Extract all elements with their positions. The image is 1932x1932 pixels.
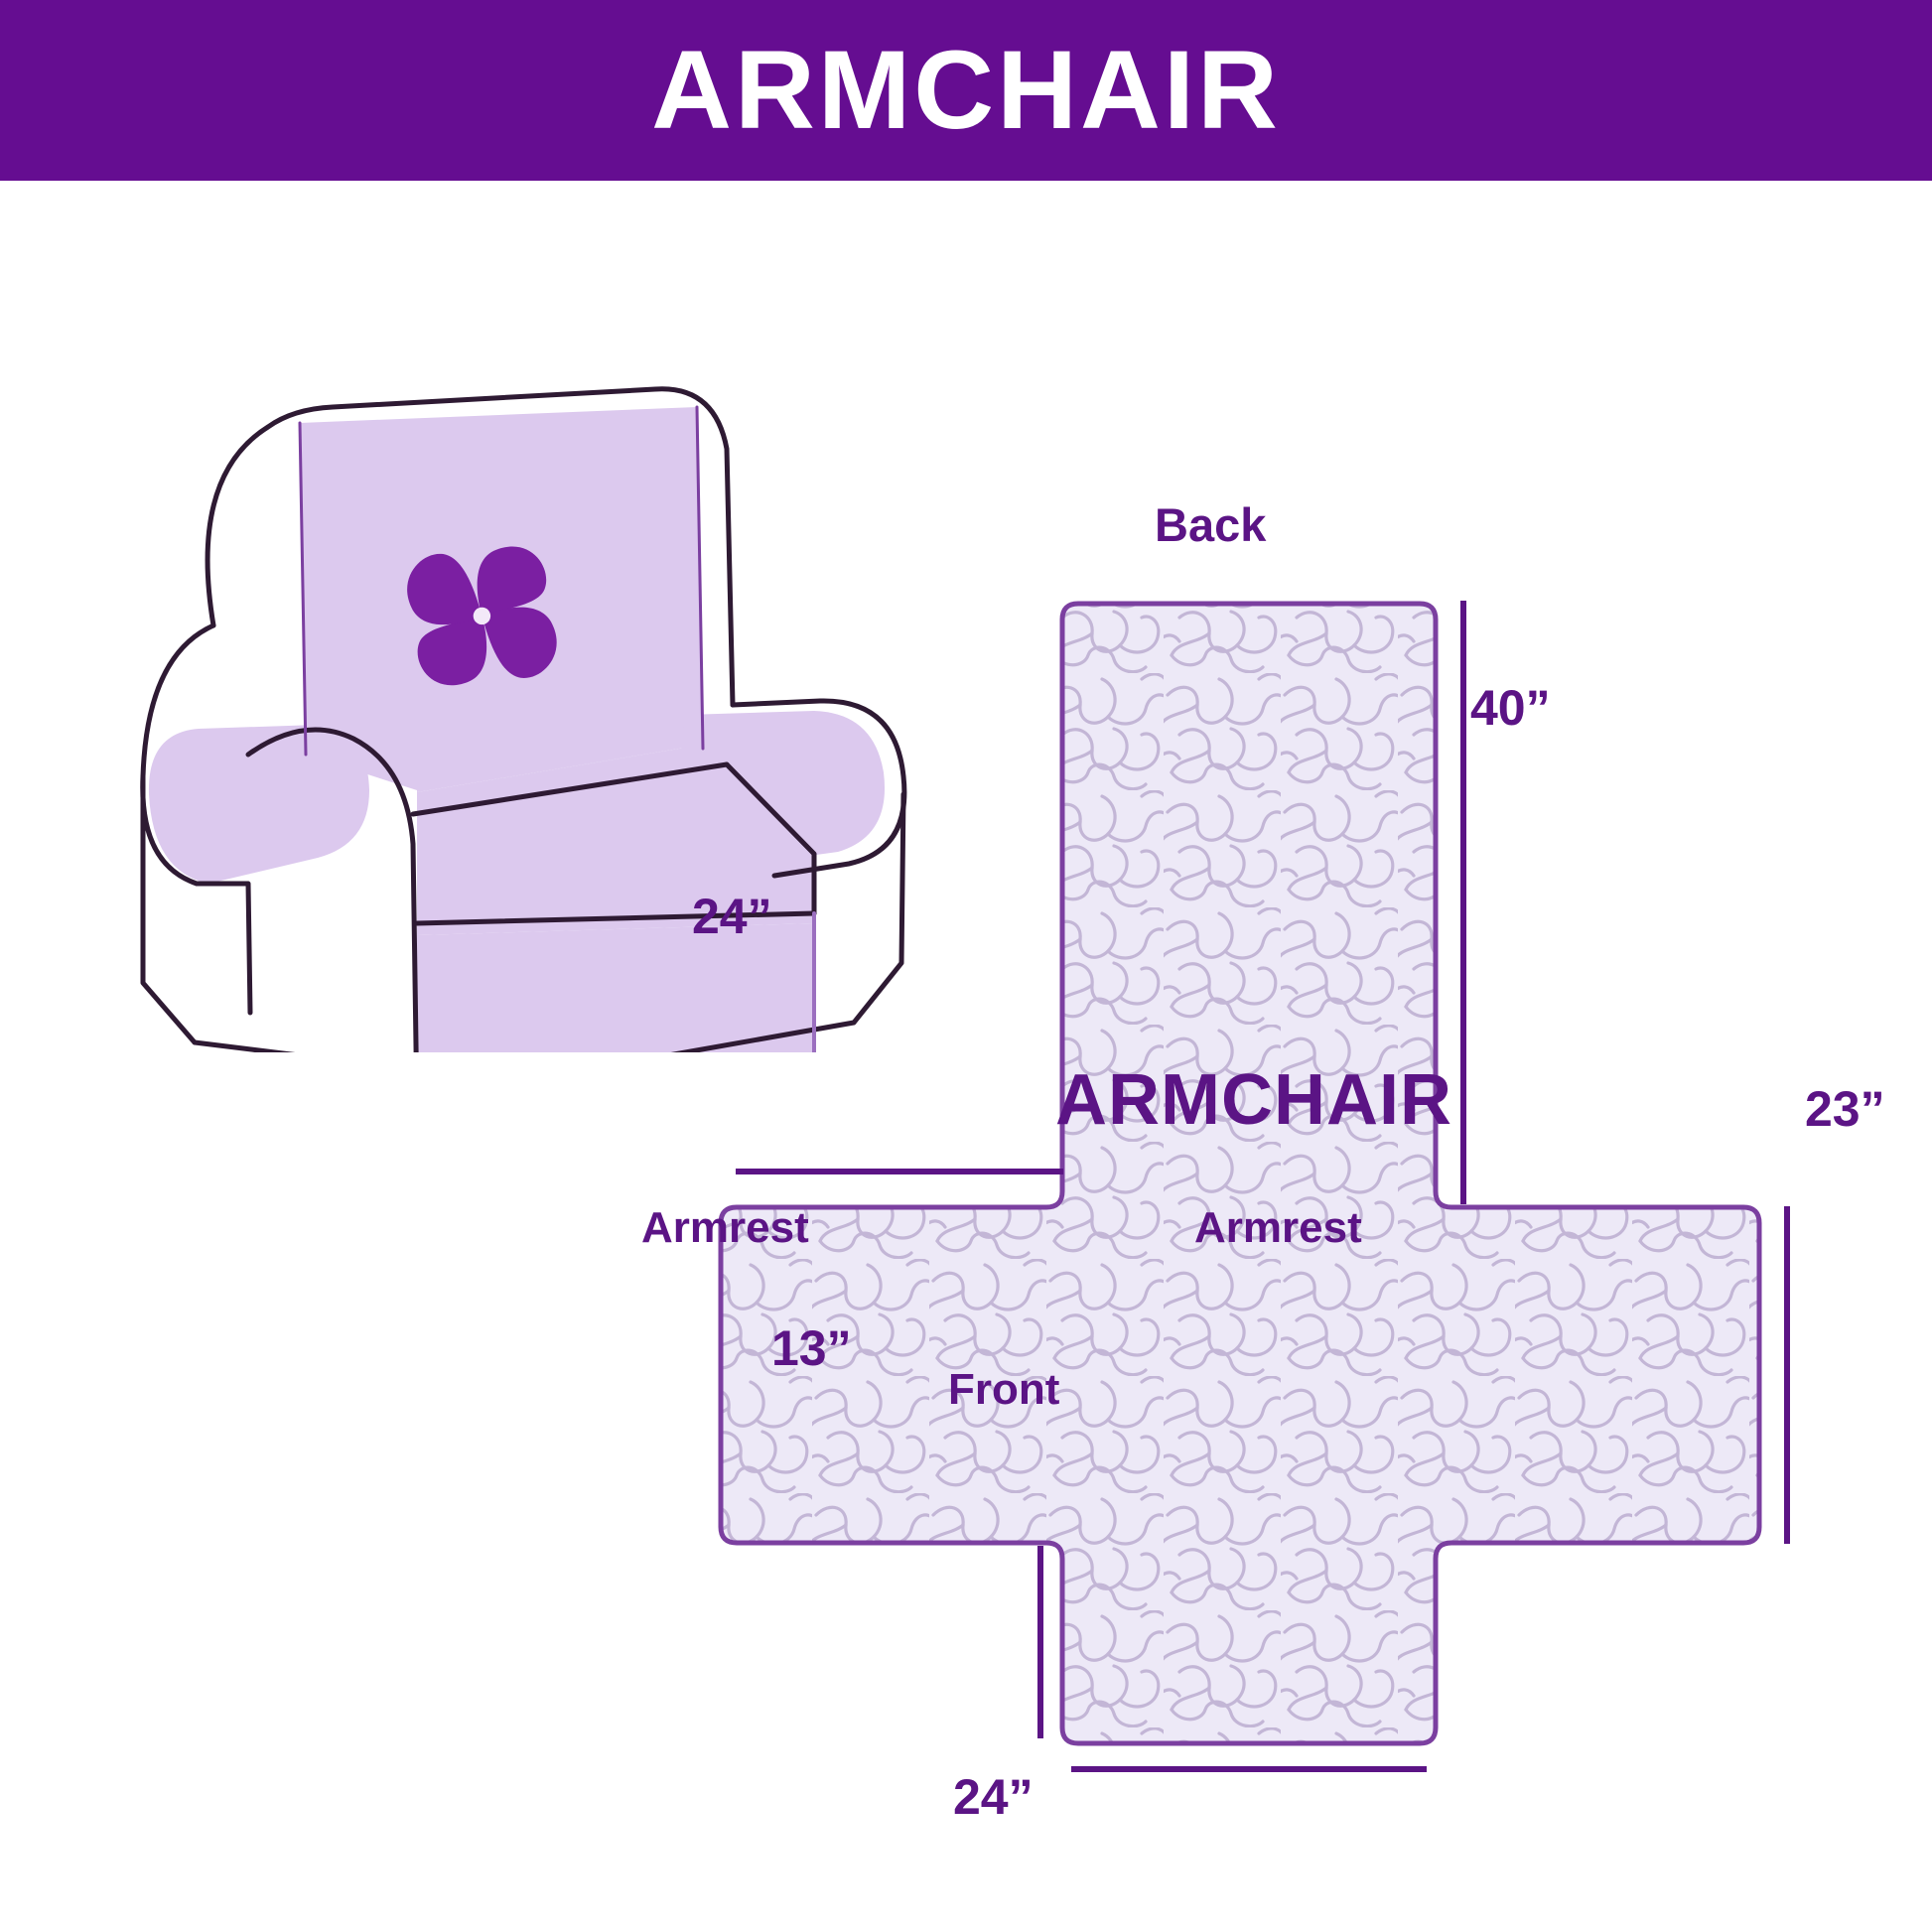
page-title: ARMCHAIR [651, 35, 1281, 146]
panel-label-armrest-left: Armrest [641, 1206, 809, 1250]
panel-label-armrest-right: Armrest [1194, 1206, 1362, 1250]
dimension-label-center-width: 23” [1805, 1084, 1885, 1134]
slipcover-pattern-diagram [695, 556, 1906, 1847]
panel-label-back: Back [1155, 501, 1266, 548]
dimension-label-front-width: 24” [953, 1772, 1034, 1822]
product-label-armchair: ARMCHAIR [1055, 1064, 1452, 1136]
fan-pinwheel-icon [407, 547, 557, 686]
panel-label-front: Front [948, 1368, 1059, 1412]
dimension-label-front-drop: 13” [771, 1323, 852, 1373]
dimension-label-armrest-top: 24” [692, 892, 772, 941]
header-banner: ARMCHAIR [0, 0, 1932, 181]
dimension-label-back-length: 40” [1470, 683, 1551, 733]
